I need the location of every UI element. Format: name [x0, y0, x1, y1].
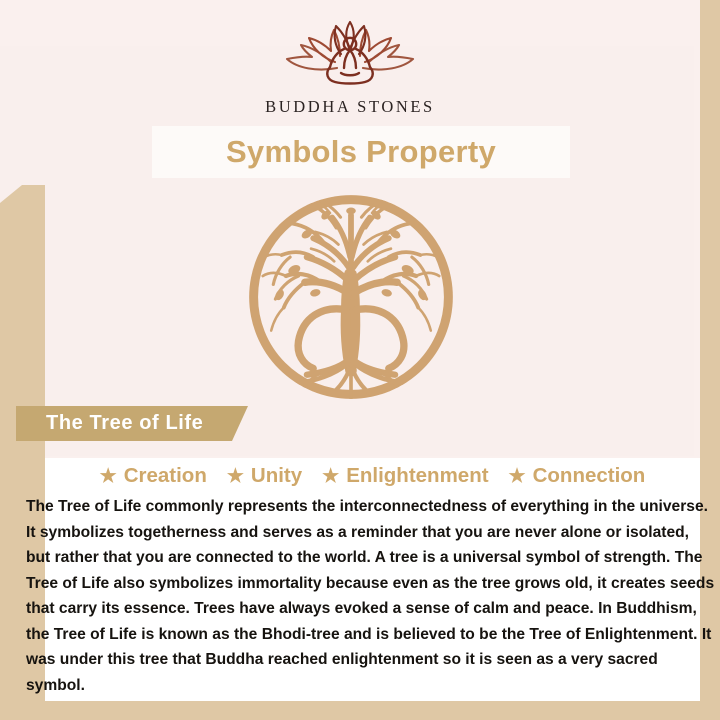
star-icon: ★	[509, 467, 526, 486]
keyword-item-connection: ★ Connection	[509, 464, 646, 488]
keyword-list: ★ Creation ★ Unity ★ Enlightenment ★ Con…	[45, 464, 700, 488]
lotus-meditation-icon	[275, 18, 425, 90]
keyword-label: Creation	[124, 464, 207, 488]
page-title-band: Symbols Property	[152, 126, 570, 178]
keyword-label: Enlightenment	[346, 464, 488, 488]
infographic-page: BUDDHA STONES Symbols Property	[0, 0, 720, 720]
brand-wordmark: BUDDHA STONES	[265, 97, 435, 117]
brand-logo: BUDDHA STONES	[0, 18, 700, 117]
keyword-item-enlightenment: ★ Enlightenment	[322, 464, 488, 488]
star-icon: ★	[100, 467, 117, 486]
keyword-label: Unity	[251, 464, 302, 488]
keyword-item-creation: ★ Creation	[100, 464, 207, 488]
star-icon: ★	[227, 467, 244, 486]
keyword-item-unity: ★ Unity	[227, 464, 302, 488]
emblem-caption: The Tree of Life	[46, 412, 203, 435]
emblem-caption-banner: The Tree of Life	[16, 406, 248, 441]
description-panel: ★ Creation ★ Unity ★ Enlightenment ★ Con…	[45, 458, 700, 701]
star-icon: ★	[322, 467, 339, 486]
description-paragraph: The Tree of Life commonly represents the…	[24, 494, 717, 698]
keyword-label: Connection	[533, 464, 646, 488]
tree-of-life-icon	[246, 192, 456, 402]
page-title: Symbols Property	[226, 134, 496, 170]
